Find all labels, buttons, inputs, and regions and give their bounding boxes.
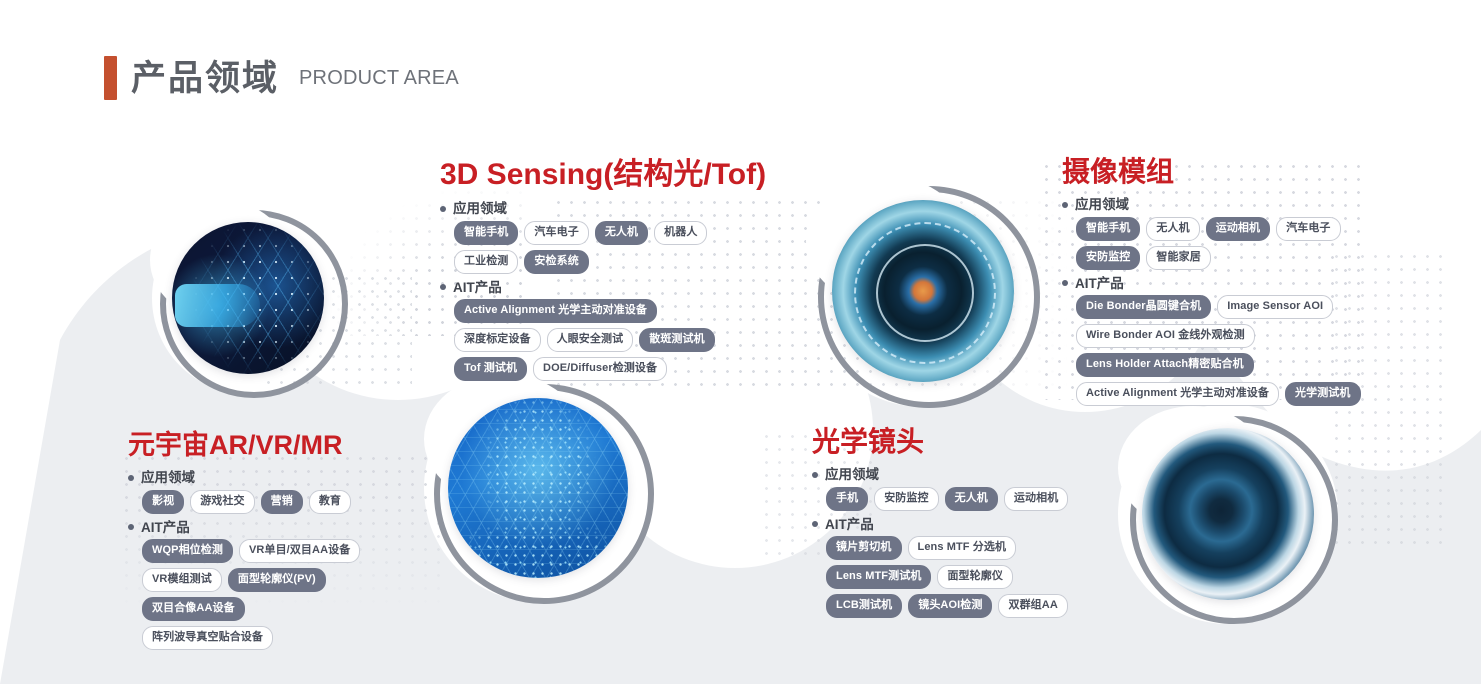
vr-headset-photo — [172, 222, 324, 374]
tag-item[interactable]: 机器人 — [654, 221, 707, 245]
product-tag-list: WQP相位检测 VR单目/双目AA设备 VR模组测试 面型轮廓仪(PV) 双目合… — [128, 539, 368, 650]
section-title: 3D Sensing(结构光/Tof) — [440, 160, 766, 190]
product-tag-list: Active Alignment 光学主动对准设备 深度标定设备 人眼安全测试 … — [440, 299, 726, 381]
camera-lens-art — [1142, 428, 1314, 600]
application-group: 应用领域 手机 安防监控 无人机 运动相机 — [812, 468, 1088, 511]
tag-item[interactable]: 双群组AA — [998, 594, 1067, 618]
application-tag-list: 智能手机 无人机 运动相机 汽车电子 安防监控 智能家居 — [1062, 217, 1366, 270]
vr-goggle-shape — [175, 284, 260, 327]
tag-item[interactable]: VR模组测试 — [142, 568, 222, 592]
bullet-icon — [128, 475, 134, 481]
tag-item[interactable]: Lens Holder Attach精密贴合机 — [1076, 353, 1254, 377]
tag-item[interactable]: 面型轮廓仪 — [937, 565, 1013, 589]
section-ar-vr-mr: 元宇宙AR/VR/MR 应用领域 影视 游戏社交 营销 教育 AIT产品 WQP… — [128, 432, 368, 657]
tag-item[interactable]: 安防监控 — [1076, 246, 1140, 270]
product-heading: AIT产品 — [1062, 277, 1366, 291]
tag-item[interactable]: Active Alignment 光学主动对准设备 — [454, 299, 657, 323]
application-label: 应用领域 — [453, 202, 507, 216]
tag-item[interactable]: 汽车电子 — [1276, 217, 1340, 241]
section-camera-module: 摄像模组 应用领域 智能手机 无人机 运动相机 汽车电子 安防监控 智能家居 A… — [1062, 158, 1366, 413]
product-tag-list: Die Bonder晶圆键合机 Image Sensor AOI Wire Bo… — [1062, 295, 1366, 406]
product-label: AIT产品 — [825, 518, 874, 532]
tag-item[interactable]: Die Bonder晶圆键合机 — [1076, 295, 1211, 319]
application-group: 应用领域 影视 游戏社交 营销 教育 — [128, 471, 368, 514]
tag-item[interactable]: Lens MTF测试机 — [826, 565, 931, 589]
section-title: 光学镜头 — [812, 428, 1088, 456]
application-tag-list: 智能手机 汽车电子 无人机 机器人 工业检测 安检系统 — [440, 221, 726, 274]
tag-item[interactable]: 面型轮廓仪(PV) — [228, 568, 326, 592]
application-heading: 应用领域 — [812, 468, 1088, 482]
tag-item[interactable]: 影视 — [142, 490, 184, 514]
application-tag-list: 手机 安防监控 无人机 运动相机 — [812, 487, 1088, 511]
product-heading: AIT产品 — [440, 281, 766, 295]
tag-item[interactable]: 工业检测 — [454, 250, 518, 274]
product-area-slide: 产品领域 PRODUCT AREA — [0, 0, 1481, 684]
section-title: 摄像模组 — [1062, 158, 1366, 186]
product-group: AIT产品 Die Bonder晶圆键合机 Image Sensor AOI W… — [1062, 277, 1366, 407]
tag-item[interactable]: 智能家居 — [1146, 246, 1210, 270]
bullet-icon — [440, 284, 446, 290]
tag-item[interactable]: 安防监控 — [874, 487, 938, 511]
application-heading: 应用领域 — [440, 202, 766, 216]
tag-item[interactable]: 运动相机 — [1004, 487, 1068, 511]
tag-item[interactable]: 智能手机 — [1076, 217, 1140, 241]
tag-item[interactable]: DOE/Diffuser检测设备 — [533, 357, 667, 381]
iris-ring-outer — [854, 222, 996, 364]
tag-item[interactable]: 无人机 — [945, 487, 998, 511]
product-group: AIT产品 镜片剪切机 Lens MTF 分选机 Lens MTF测试机 面型轮… — [812, 518, 1088, 619]
tag-item[interactable]: Image Sensor AOI — [1217, 295, 1333, 319]
tag-item[interactable]: 手机 — [826, 487, 868, 511]
tag-item[interactable]: 无人机 — [1146, 217, 1199, 241]
tag-item[interactable]: VR单目/双目AA设备 — [239, 539, 360, 563]
application-label: 应用领域 — [141, 471, 195, 485]
section-optical-lens: 光学镜头 应用领域 手机 安防监控 无人机 运动相机 AIT产品 镜片剪切机 L… — [812, 428, 1088, 625]
product-heading: AIT产品 — [128, 521, 368, 535]
tag-item[interactable]: 安检系统 — [524, 250, 588, 274]
tag-item[interactable]: 营销 — [261, 490, 303, 514]
tag-item[interactable]: Wire Bonder AOI 金线外观检测 — [1076, 324, 1255, 348]
application-group: 应用领域 智能手机 无人机 运动相机 汽车电子 安防监控 智能家居 — [1062, 198, 1366, 270]
tag-item[interactable]: 汽车电子 — [524, 221, 588, 245]
bullet-icon — [812, 521, 818, 527]
product-label: AIT产品 — [453, 281, 502, 295]
application-label: 应用领域 — [1075, 198, 1129, 212]
product-group: AIT产品 Active Alignment 光学主动对准设备 深度标定设备 人… — [440, 281, 766, 382]
page-subtitle: PRODUCT AREA — [299, 68, 459, 88]
section-title: 元宇宙AR/VR/MR — [128, 432, 368, 459]
tag-item[interactable]: Active Alignment 光学主动对准设备 — [1076, 382, 1279, 406]
product-group: AIT产品 WQP相位检测 VR单目/双目AA设备 VR模组测试 面型轮廓仪(P… — [128, 521, 368, 651]
bullet-icon — [1062, 202, 1068, 208]
tag-item[interactable]: 智能手机 — [454, 221, 518, 245]
face-scan-mesh-photo — [448, 398, 628, 578]
tag-item[interactable]: 镜头AOI检测 — [908, 594, 992, 618]
bullet-icon — [440, 206, 446, 212]
application-group: 应用领域 智能手机 汽车电子 无人机 机器人 工业检测 安检系统 — [440, 202, 766, 274]
accent-bar-icon — [104, 56, 117, 100]
section-3d-sensing: 3D Sensing(结构光/Tof) 应用领域 智能手机 汽车电子 无人机 机… — [440, 160, 766, 388]
camera-iris-photo — [832, 200, 1014, 382]
tag-item[interactable]: 镜片剪切机 — [826, 536, 902, 560]
tag-item[interactable]: 教育 — [309, 490, 351, 514]
tag-item[interactable]: Tof 测试机 — [454, 357, 527, 381]
page-title: 产品领域 — [131, 61, 279, 96]
application-heading: 应用领域 — [1062, 198, 1366, 212]
application-label: 应用领域 — [825, 468, 879, 482]
tag-item[interactable]: WQP相位检测 — [142, 539, 233, 563]
page-header: 产品领域 PRODUCT AREA — [104, 56, 459, 100]
bullet-icon — [1062, 280, 1068, 286]
product-heading: AIT产品 — [812, 518, 1088, 532]
face-points-overlay — [448, 398, 628, 578]
tag-item[interactable]: LCB测试机 — [826, 594, 902, 618]
product-label: AIT产品 — [141, 521, 190, 535]
bullet-icon — [128, 524, 134, 530]
application-tag-list: 影视 游戏社交 营销 教育 — [128, 490, 368, 514]
tag-item[interactable]: 光学测试机 — [1285, 382, 1361, 406]
tag-item[interactable]: 游戏社交 — [190, 490, 254, 514]
application-heading: 应用领域 — [128, 471, 368, 485]
tag-item[interactable]: 运动相机 — [1206, 217, 1270, 241]
product-label: AIT产品 — [1075, 277, 1124, 291]
tag-item[interactable]: 人眼安全测试 — [547, 328, 634, 352]
tag-item[interactable]: 散斑测试机 — [639, 328, 715, 352]
camera-lens-photo — [1142, 428, 1314, 600]
tag-item[interactable]: 无人机 — [595, 221, 648, 245]
bullet-icon — [812, 472, 818, 478]
tag-item[interactable]: 双目合像AA设备 — [142, 597, 245, 621]
tag-item[interactable]: 阵列波导真空贴合设备 — [142, 626, 273, 650]
product-tag-list: 镜片剪切机 Lens MTF 分选机 Lens MTF测试机 面型轮廓仪 LCB… — [812, 536, 1088, 618]
tag-item[interactable]: Lens MTF 分选机 — [908, 536, 1017, 560]
tag-item[interactable]: 深度标定设备 — [454, 328, 541, 352]
